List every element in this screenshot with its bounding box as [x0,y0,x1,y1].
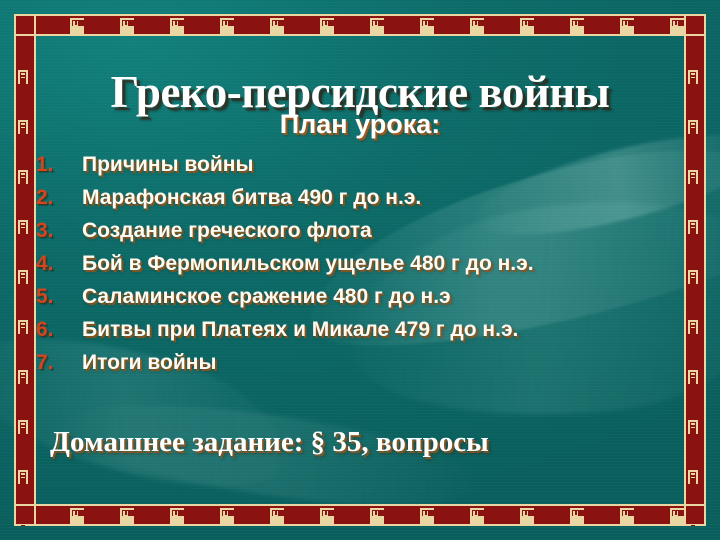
list-item-label: Бой в Фермопильском ущелье 480 г до н.э. [82,247,534,280]
list-item-label: Итоги войны [82,346,216,379]
list-item: 7. Итоги войны [36,346,534,379]
lesson-plan-list: 1. Причины войны 2. Марафонская битва 49… [36,148,534,379]
plan-heading: План урока: [36,108,684,140]
list-item-number: 4. [36,247,82,280]
meander-pattern [686,14,704,526]
meander-pattern [16,14,34,526]
list-item-number: 2. [36,181,82,214]
border-right-meander [684,14,706,526]
list-item-label: Саламинское сражение 480 г до н.э [82,280,451,313]
list-item: 1. Причины войны [36,148,534,181]
list-item-number: 3. [36,214,82,247]
list-item-number: 5. [36,280,82,313]
border-corner-top-right [684,14,706,36]
list-item: 3. Создание греческого флота [36,214,534,247]
homework-assignment: Домашнее задание: § 35, вопросы [50,424,489,460]
list-item: 5. Саламинское сражение 480 г до н.э [36,280,534,313]
list-item-label: Причины войны [82,148,253,181]
list-item: 4. Бой в Фермопильском ущелье 480 г до н… [36,247,534,280]
list-item-number: 7. [36,346,82,379]
list-item-label: Марафонская битва 490 г до н.э. [82,181,421,214]
border-corner-bottom-left [14,504,36,526]
list-item-number: 6. [36,313,82,346]
list-item-label: Создание греческого флота [82,214,372,247]
border-corner-top-left [14,14,36,36]
presentation-slide: Греко-персидские войны План урока: 1. Пр… [0,0,720,540]
border-corner-bottom-right [684,504,706,526]
border-left-meander [14,14,36,526]
list-item: 6. Битвы при Платеях и Микале 479 г до н… [36,313,534,346]
list-item-number: 1. [36,148,82,181]
list-item-label: Битвы при Платеях и Микале 479 г до н.э. [82,313,518,346]
slide-content: Греко-персидские войны План урока: 1. Пр… [36,24,684,516]
list-item: 2. Марафонская битва 490 г до н.э. [36,181,534,214]
